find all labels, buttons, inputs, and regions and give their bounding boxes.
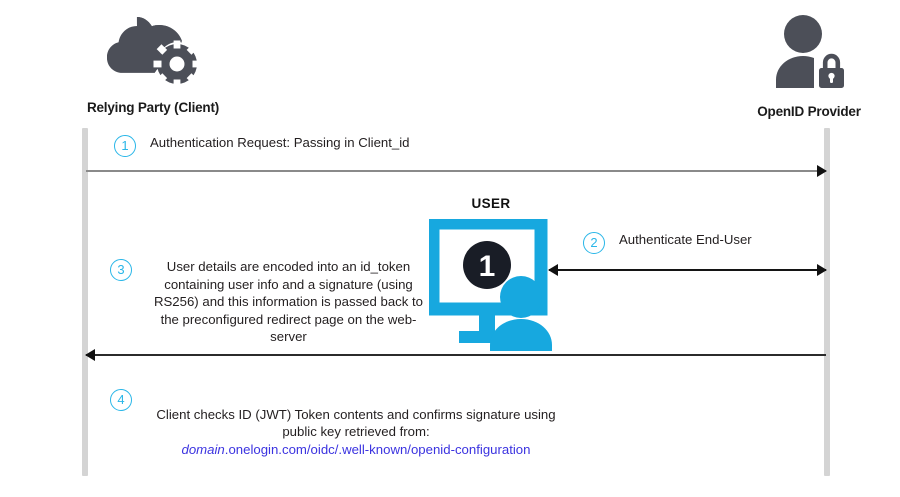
- step-1: 1 Authentication Request: Passing in Cli…: [114, 134, 410, 157]
- step-2-text: Authenticate End-User: [619, 231, 752, 249]
- step-3: 3 User details are encoded into an id_to…: [110, 258, 450, 346]
- step-2: 2 Authenticate End-User: [583, 231, 752, 254]
- step-4-url[interactable]: domain.onelogin.com/oidc/.well-known/ope…: [146, 441, 566, 459]
- arrow-shaft: [86, 170, 826, 172]
- step-4-url-rest: .onelogin.com/oidc/.well-known/openid-co…: [225, 442, 531, 457]
- step-4-number: 4: [110, 389, 132, 411]
- oidc-flow-diagram: Relying Party (Client) OpenID Provider: [0, 0, 900, 497]
- actor-openid-provider-label: OpenID Provider: [757, 104, 861, 119]
- user-lock-icon: [724, 14, 894, 95]
- step-3-number: 3: [110, 259, 132, 281]
- lifeline-relying-party: [82, 128, 88, 476]
- step-4: 4 Client checks ID (JWT) Token contents …: [110, 388, 570, 476]
- actor-relying-party: Relying Party (Client): [8, 14, 298, 117]
- step-3-text: User details are encoded into an id_toke…: [146, 258, 431, 346]
- arrow-shaft: [549, 269, 826, 271]
- step-4-text-block: Client checks ID (JWT) Token contents an…: [146, 388, 566, 476]
- step-2-number: 2: [583, 232, 605, 254]
- arrowhead-left-icon: [85, 349, 95, 361]
- message-arrow-step-2: [549, 264, 826, 276]
- arrowhead-right-icon: [817, 165, 827, 177]
- user-actor: USER 1: [429, 196, 553, 354]
- monitor-badge-number: 1: [479, 250, 496, 283]
- step-4-url-domain: domain: [182, 442, 225, 457]
- arrowhead-right-icon: [817, 264, 827, 276]
- lifeline-openid-provider: [824, 128, 830, 476]
- actor-relying-party-label: Relying Party (Client): [87, 100, 219, 115]
- message-arrow-step-1: [86, 165, 826, 177]
- monitor-user-icon: 1: [429, 219, 553, 356]
- user-label: USER: [429, 196, 553, 211]
- cloud-gear-icon: [8, 14, 298, 91]
- step-1-text: Authentication Request: Passing in Clien…: [150, 134, 410, 152]
- actor-openid-provider: OpenID Provider: [724, 14, 894, 121]
- step-1-number: 1: [114, 135, 136, 157]
- step-4-text: Client checks ID (JWT) Token contents an…: [156, 407, 555, 440]
